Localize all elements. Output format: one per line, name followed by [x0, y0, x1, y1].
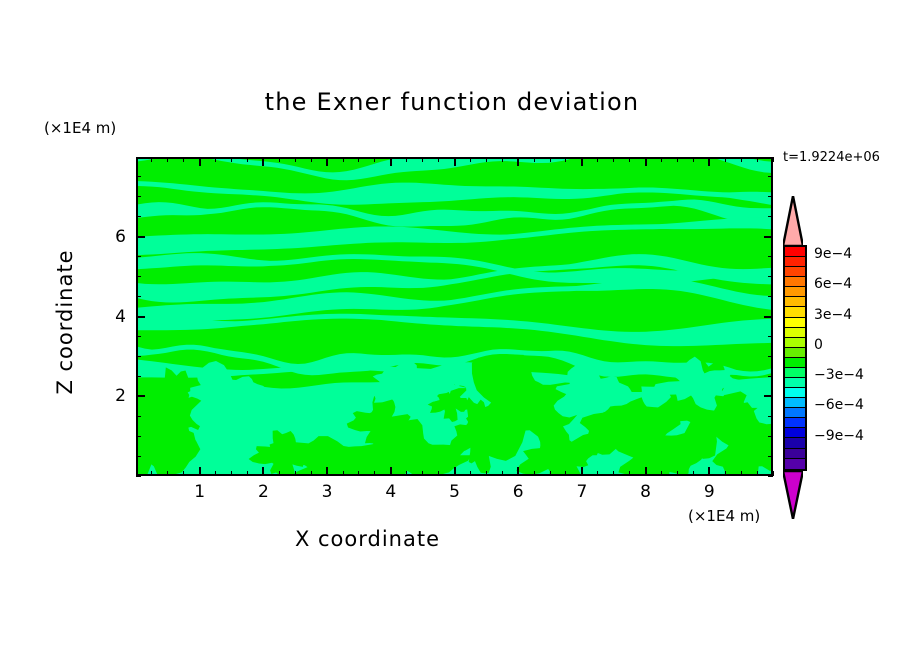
colorbar-tick-label: −9e−4: [814, 428, 864, 444]
contour-field: [138, 159, 771, 474]
colorbar-tick-label: −3e−4: [814, 367, 864, 383]
x-axis-tick-label: 8: [626, 482, 666, 502]
x-axis-tick-labels: 123456789: [136, 482, 773, 506]
y-axis-tick-label: 6: [86, 227, 126, 247]
colorbar-tick-label: 6e−4: [814, 276, 852, 292]
x-axis-tick-label: 2: [243, 482, 283, 502]
vertical-axis-unit-label: (×1E4 m): [44, 119, 116, 137]
colorbar-tick-labels: 9e−46e−43e−40−3e−4−6e−4−9e−4: [770, 196, 830, 516]
page-title: the Exner function deviation: [0, 88, 904, 116]
x-axis-tick-label: 3: [307, 482, 347, 502]
contour-plot-area[interactable]: [136, 157, 773, 476]
colorbar-tick-label: −6e−4: [814, 397, 864, 413]
x-axis-title: X coordinate: [0, 527, 735, 551]
horizontal-axis-unit-label: (×1E4 m): [688, 507, 760, 525]
colorbar-tick-label: 9e−4: [814, 246, 852, 262]
x-axis-tick-label: 9: [689, 482, 729, 502]
x-axis-tick-label: 4: [371, 482, 411, 502]
colorbar-tick-label: 0: [814, 337, 823, 353]
y-axis-title: Z coordinate: [53, 212, 77, 432]
x-axis-tick-label: 7: [562, 482, 602, 502]
y-axis-tick-label: 2: [86, 386, 126, 406]
x-axis-tick-label: 1: [180, 482, 220, 502]
x-axis-tick-label: 5: [435, 482, 475, 502]
y-axis-tick-labels: 246: [86, 157, 130, 476]
y-axis-tick-label: 4: [86, 307, 126, 327]
colorbar-tick-label: 3e−4: [814, 307, 852, 323]
x-axis-tick-label: 6: [498, 482, 538, 502]
colorbar[interactable]: 9e−46e−43e−40−3e−4−6e−4−9e−4: [770, 196, 830, 516]
time-stamp-label: t=1.9224e+06: [783, 150, 880, 165]
